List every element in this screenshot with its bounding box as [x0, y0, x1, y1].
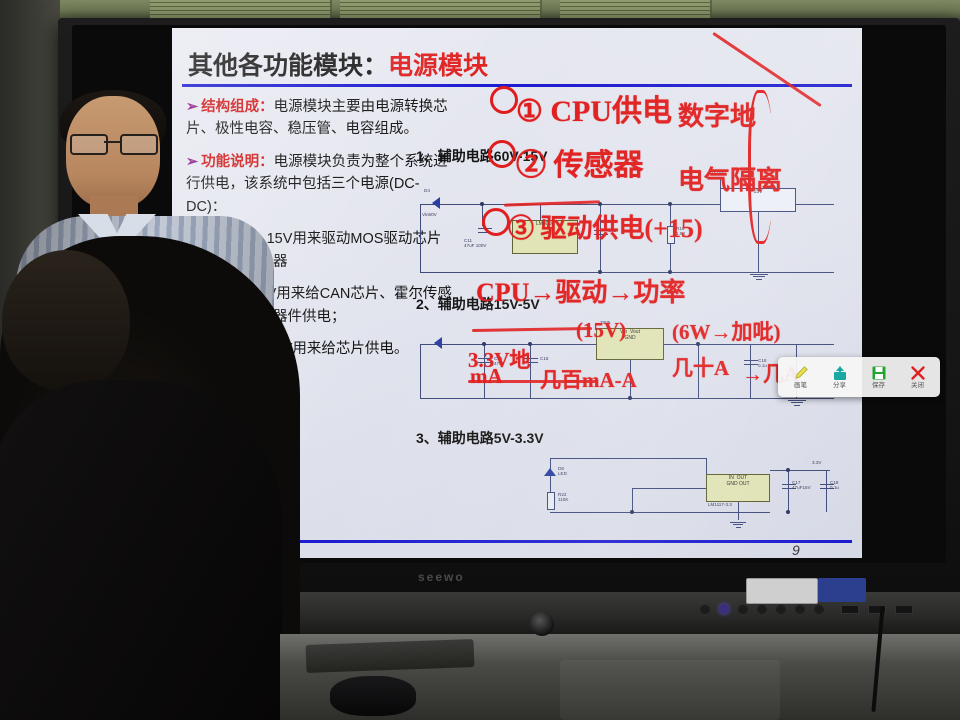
pen-icon — [793, 364, 809, 382]
close-icon — [910, 364, 926, 382]
control-button[interactable] — [776, 604, 786, 614]
ink-underline-1 — [468, 380, 598, 383]
ink-note-5: 数字地 — [678, 96, 756, 133]
pen-tool-button[interactable]: 画笔 — [782, 364, 819, 390]
floating-toolbar[interactable]: 画笔 分享 保存 关闭 — [778, 357, 940, 397]
save-tool-label: 保存 — [872, 383, 885, 390]
ink-circle-2 — [488, 140, 516, 168]
save-tool-button[interactable]: 保存 — [860, 364, 897, 390]
ink-note-12: 几十A — [672, 352, 729, 382]
circuit-heading-3: 3、辅助电路5V-3.3V — [416, 428, 544, 448]
ink-circle-1 — [490, 86, 518, 114]
badge-panel — [818, 578, 866, 602]
ink-note-2: ② 传感器 — [516, 140, 644, 184]
ic-lm1117: IN OUTGND OUT — [706, 474, 770, 502]
ground-symbol — [750, 272, 768, 280]
ink-note-4: CPU→驱动→功率 — [476, 272, 685, 309]
slide-page-number: 9 — [792, 542, 800, 558]
display-brand-label: seewo — [418, 570, 465, 584]
ir-window — [746, 578, 818, 604]
usb-port — [841, 605, 859, 614]
close-tool-button[interactable]: 关闭 — [899, 364, 936, 390]
page-title: 其他各功能模块：电源模块 — [188, 46, 488, 82]
ink-note-1: ① CPU供电 — [516, 86, 672, 130]
pen-tool-label: 画笔 — [794, 383, 807, 390]
control-button[interactable] — [700, 604, 710, 614]
control-button[interactable] — [814, 604, 824, 614]
share-tool-label: 分享 — [833, 383, 846, 390]
presenter-glasses-icon — [70, 134, 156, 152]
ink-note-7: (15V) — [576, 318, 626, 343]
share-tool-button[interactable]: 分享 — [821, 364, 858, 390]
ink-note-6: 电气隔离 — [678, 160, 782, 197]
control-button[interactable] — [795, 604, 805, 614]
ink-note-8: (6W→加吡) — [672, 316, 781, 346]
foreground-person-head — [2, 250, 130, 390]
share-icon — [832, 364, 848, 382]
ink-note-10: mA — [470, 364, 503, 389]
control-button[interactable] — [738, 604, 748, 614]
desk-pad — [560, 660, 780, 720]
power-button[interactable] — [719, 604, 729, 614]
foreground-person-shoulder — [0, 380, 282, 720]
camera-sensor — [530, 612, 554, 636]
aux-port — [895, 605, 913, 614]
screenshot-root: 其他各功能模块：电源模块 9/08/09 9 华中科技大学电气与电子工程学院 S… — [0, 0, 960, 720]
close-tool-label: 关闭 — [911, 383, 924, 390]
ink-circle-3 — [482, 208, 510, 236]
ink-note-3: ③ 驱动供电(+15) — [508, 208, 703, 245]
control-button[interactable] — [757, 604, 767, 614]
mouse-device[interactable] — [330, 676, 416, 716]
circuit-diagram-3: D6LED R22110K IN OUTGND OUT LM1117-3.3 C… — [540, 452, 840, 532]
ink-note-11: 几百mA-A — [540, 364, 637, 394]
keyboard[interactable] — [306, 639, 475, 673]
save-icon — [871, 364, 887, 382]
